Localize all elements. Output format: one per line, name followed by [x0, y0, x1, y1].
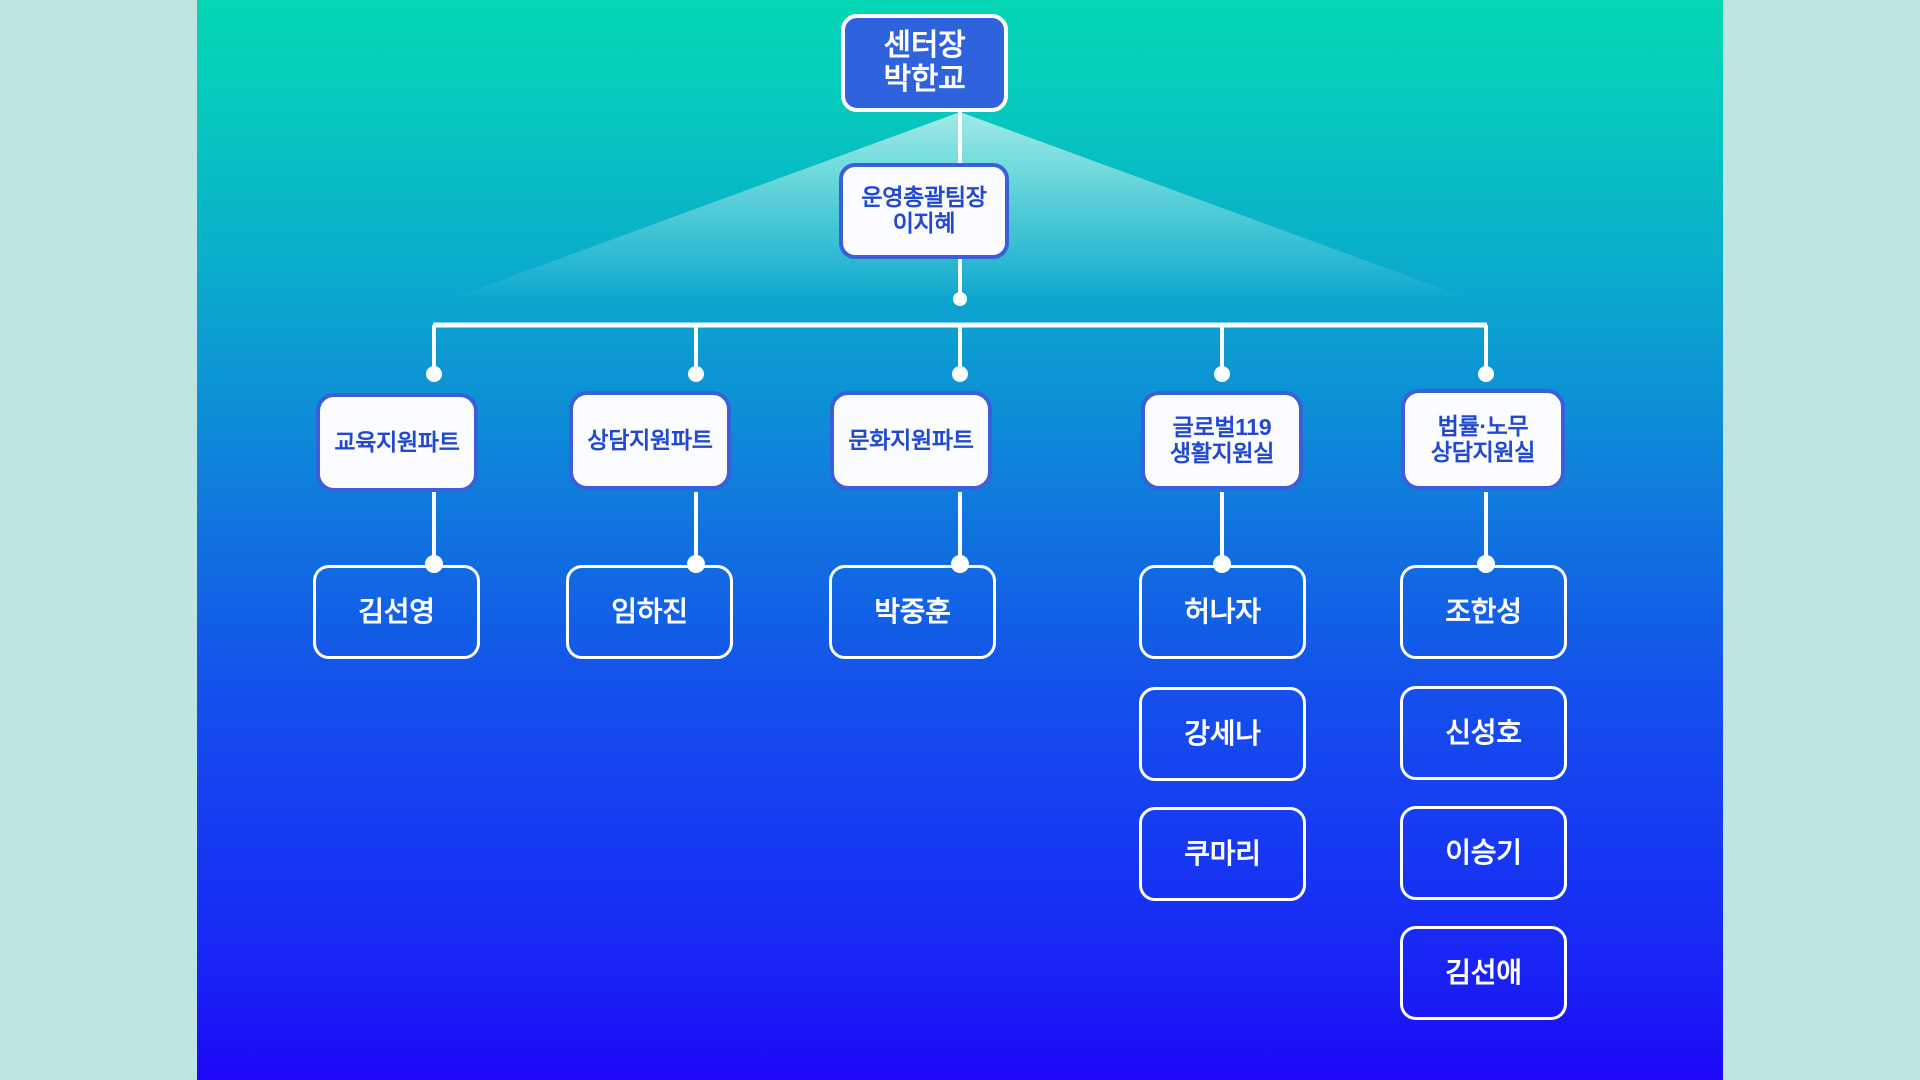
node-operations-manager[interactable]: 운영총괄팀장 이지혜: [839, 163, 1009, 259]
node-member-kim-sunae[interactable]: 김선애: [1400, 926, 1567, 1020]
connector-dot-dept-3: [952, 366, 968, 382]
node-center-director[interactable]: 센터장 박한교: [841, 14, 1008, 112]
connector-dot-dept-4: [1214, 366, 1230, 382]
node-member-heo-naja[interactable]: 허나자: [1139, 565, 1306, 659]
node-member-im-hajin[interactable]: 임하진: [566, 565, 733, 659]
connector-lines: [197, 0, 1723, 1080]
node-member-shin-seongho[interactable]: 신성호: [1400, 686, 1567, 780]
node-member-park-junghoon[interactable]: 박중훈: [829, 565, 996, 659]
node-member-jo-hanseong[interactable]: 조한성: [1400, 565, 1567, 659]
connector-dot-dept-5: [1478, 366, 1494, 382]
fan-background-decoration: [197, 0, 1723, 1080]
node-member-lee-seunggi[interactable]: 이승기: [1400, 806, 1567, 900]
node-department-global119-living-support[interactable]: 글로벌119 생활지원실: [1141, 391, 1303, 490]
connector-dot-dept-1: [426, 366, 442, 382]
node-department-education-support[interactable]: 교육지원파트: [316, 393, 478, 492]
node-member-kumari[interactable]: 쿠마리: [1139, 807, 1306, 901]
node-member-kang-sena[interactable]: 강세나: [1139, 687, 1306, 781]
chart-canvas: 센터장 박한교 운영총괄팀장 이지혜 교육지원파트 상담지원파트 문화지원파트 …: [197, 0, 1723, 1080]
node-department-culture-support[interactable]: 문화지원파트: [830, 391, 992, 490]
connector-dot-manager-drop: [953, 292, 967, 306]
org-chart-root: 센터장 박한교 운영총괄팀장 이지혜 교육지원파트 상담지원파트 문화지원파트 …: [0, 0, 1920, 1080]
node-department-legal-labor-counseling[interactable]: 법률·노무 상담지원실: [1401, 389, 1565, 490]
node-department-counseling-support[interactable]: 상담지원파트: [569, 391, 731, 490]
node-member-kim-sunyoung[interactable]: 김선영: [313, 565, 480, 659]
connector-dot-dept-2: [688, 366, 704, 382]
